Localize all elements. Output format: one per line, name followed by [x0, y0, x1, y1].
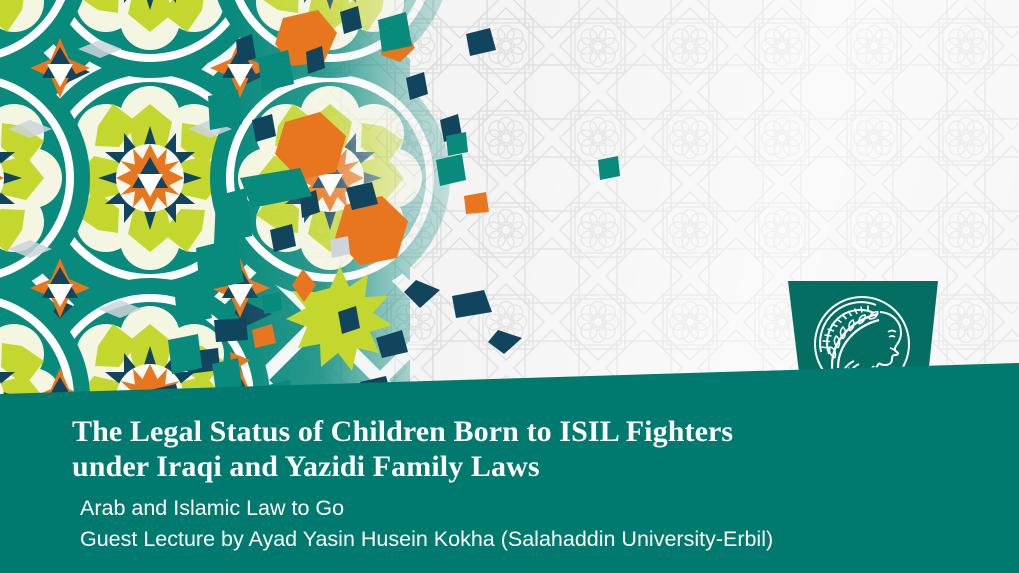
subtitle-series: Arab and Islamic Law to Go [80, 493, 972, 524]
title-line-1: The Legal Status of Children Born to ISI… [72, 415, 733, 448]
page-title: The Legal Status of Children Born to ISI… [72, 414, 972, 484]
presentation-title-slide: The Legal Status of Children Born to ISI… [0, 0, 1019, 573]
islamic-geometric-mosaic [0, 0, 700, 420]
title-line-2: under Iraqi and Yazidi Family Laws [72, 450, 540, 483]
subtitle-block: Arab and Islamic Law to Go Guest Lecture… [72, 493, 972, 554]
subtitle-speaker: Guest Lecture by Ayad Yasin Husein Kokha… [80, 524, 972, 555]
title-text-block: The Legal Status of Children Born to ISI… [72, 414, 972, 554]
